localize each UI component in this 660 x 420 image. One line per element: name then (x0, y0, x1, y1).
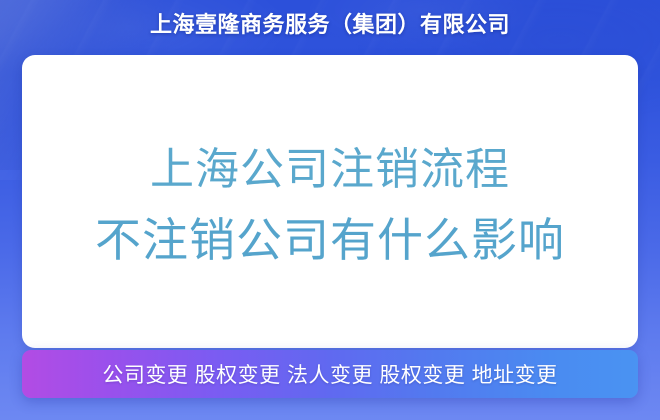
content-card: 上海公司注销流程 不注销公司有什么影响 (22, 55, 638, 348)
promo-poster: 上海壹隆商务服务（集团）有限公司 上海公司注销流程 不注销公司有什么影响 公司变… (0, 0, 660, 420)
service-list-text: 公司变更 股权变更 法人变更 股权变更 地址变更 (102, 359, 557, 389)
company-name-header: 上海壹隆商务服务（集团）有限公司 (0, 10, 660, 40)
headline-block: 上海公司注销流程 不注销公司有什么影响 (22, 141, 638, 271)
headline-line-2: 不注销公司有什么影响 (22, 209, 638, 271)
service-list-bar[interactable]: 公司变更 股权变更 法人变更 股权变更 地址变更 (22, 350, 638, 398)
headline-line-1: 上海公司注销流程 (22, 141, 638, 199)
